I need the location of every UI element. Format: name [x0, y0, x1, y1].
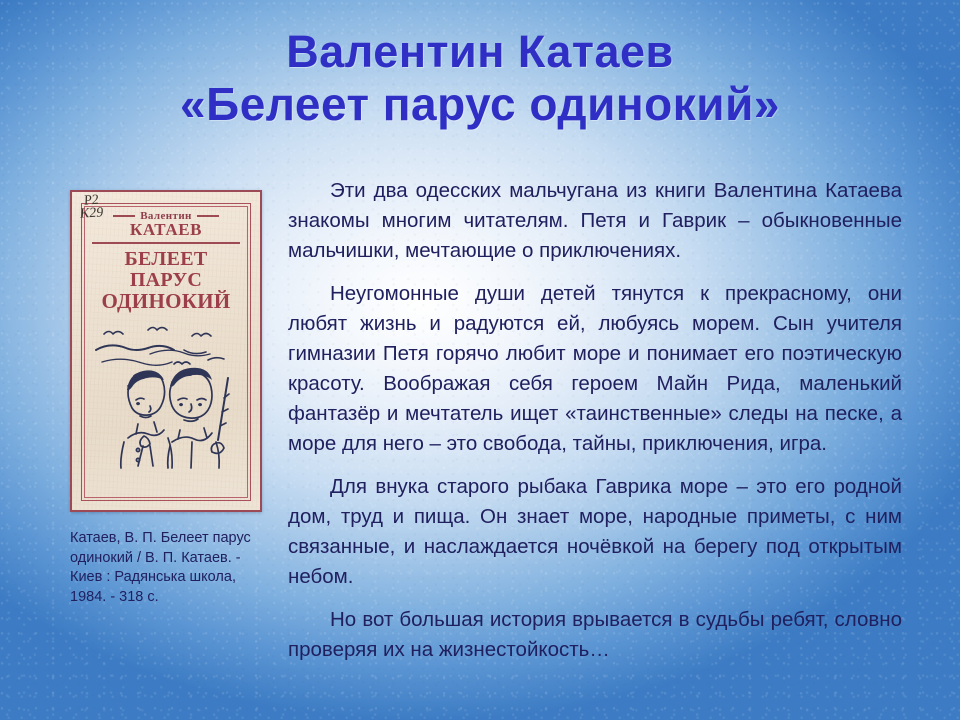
book-cover-column: Р2 К29 Валентин КАТАЕВ БЕЛЕЕТ ПАРУС ОДИН…: [70, 190, 275, 607]
body-text-column: Эти два одесских мальчугана из книги Вал…: [288, 176, 902, 665]
paragraph-2: Неугомонные души детей тянутся к прекрас…: [288, 279, 902, 459]
cover-rule-left: [113, 215, 135, 217]
title-line-author: Валентин Катаев: [0, 26, 960, 78]
cover-content: Валентин КАТАЕВ БЕЛЕЕТ ПАРУС ОДИНОКИЙ: [86, 208, 246, 496]
page-title: Валентин Катаев «Белеет парус одинокий»: [0, 26, 960, 130]
library-shelf-marks: Р2 К29: [80, 194, 103, 220]
cover-author-surname: КАТАЕВ: [86, 221, 246, 238]
cover-title-line-1: БЕЛЕЕТ: [86, 249, 246, 270]
book-cover-image: Р2 К29 Валентин КАТАЕВ БЕЛЕЕТ ПАРУС ОДИН…: [70, 190, 262, 512]
paragraph-3: Для внука старого рыбака Гаврика море – …: [288, 472, 902, 592]
cover-title-line-2: ПАРУС: [86, 270, 246, 291]
cover-rule-right: [197, 215, 219, 217]
cover-illustration-two-boys: [86, 320, 246, 475]
presentation-slide: Валентин Катаев «Белеет парус одинокий» …: [0, 0, 960, 720]
paragraph-4: Но вот большая история врывается в судьб…: [288, 605, 902, 665]
title-line-book: «Белеет парус одинокий»: [0, 78, 960, 130]
book-bibliographic-caption: Катаев, В. П. Белеет парус одинокий / В.…: [70, 529, 270, 607]
cover-title: БЕЛЕЕТ ПАРУС ОДИНОКИЙ: [86, 249, 246, 312]
paragraph-1: Эти два одесских мальчугана из книги Вал…: [288, 176, 902, 266]
shelf-mark-line-2: К29: [79, 206, 103, 220]
cover-divider-rule: [92, 242, 240, 244]
cover-title-line-3: ОДИНОКИЙ: [86, 291, 246, 312]
